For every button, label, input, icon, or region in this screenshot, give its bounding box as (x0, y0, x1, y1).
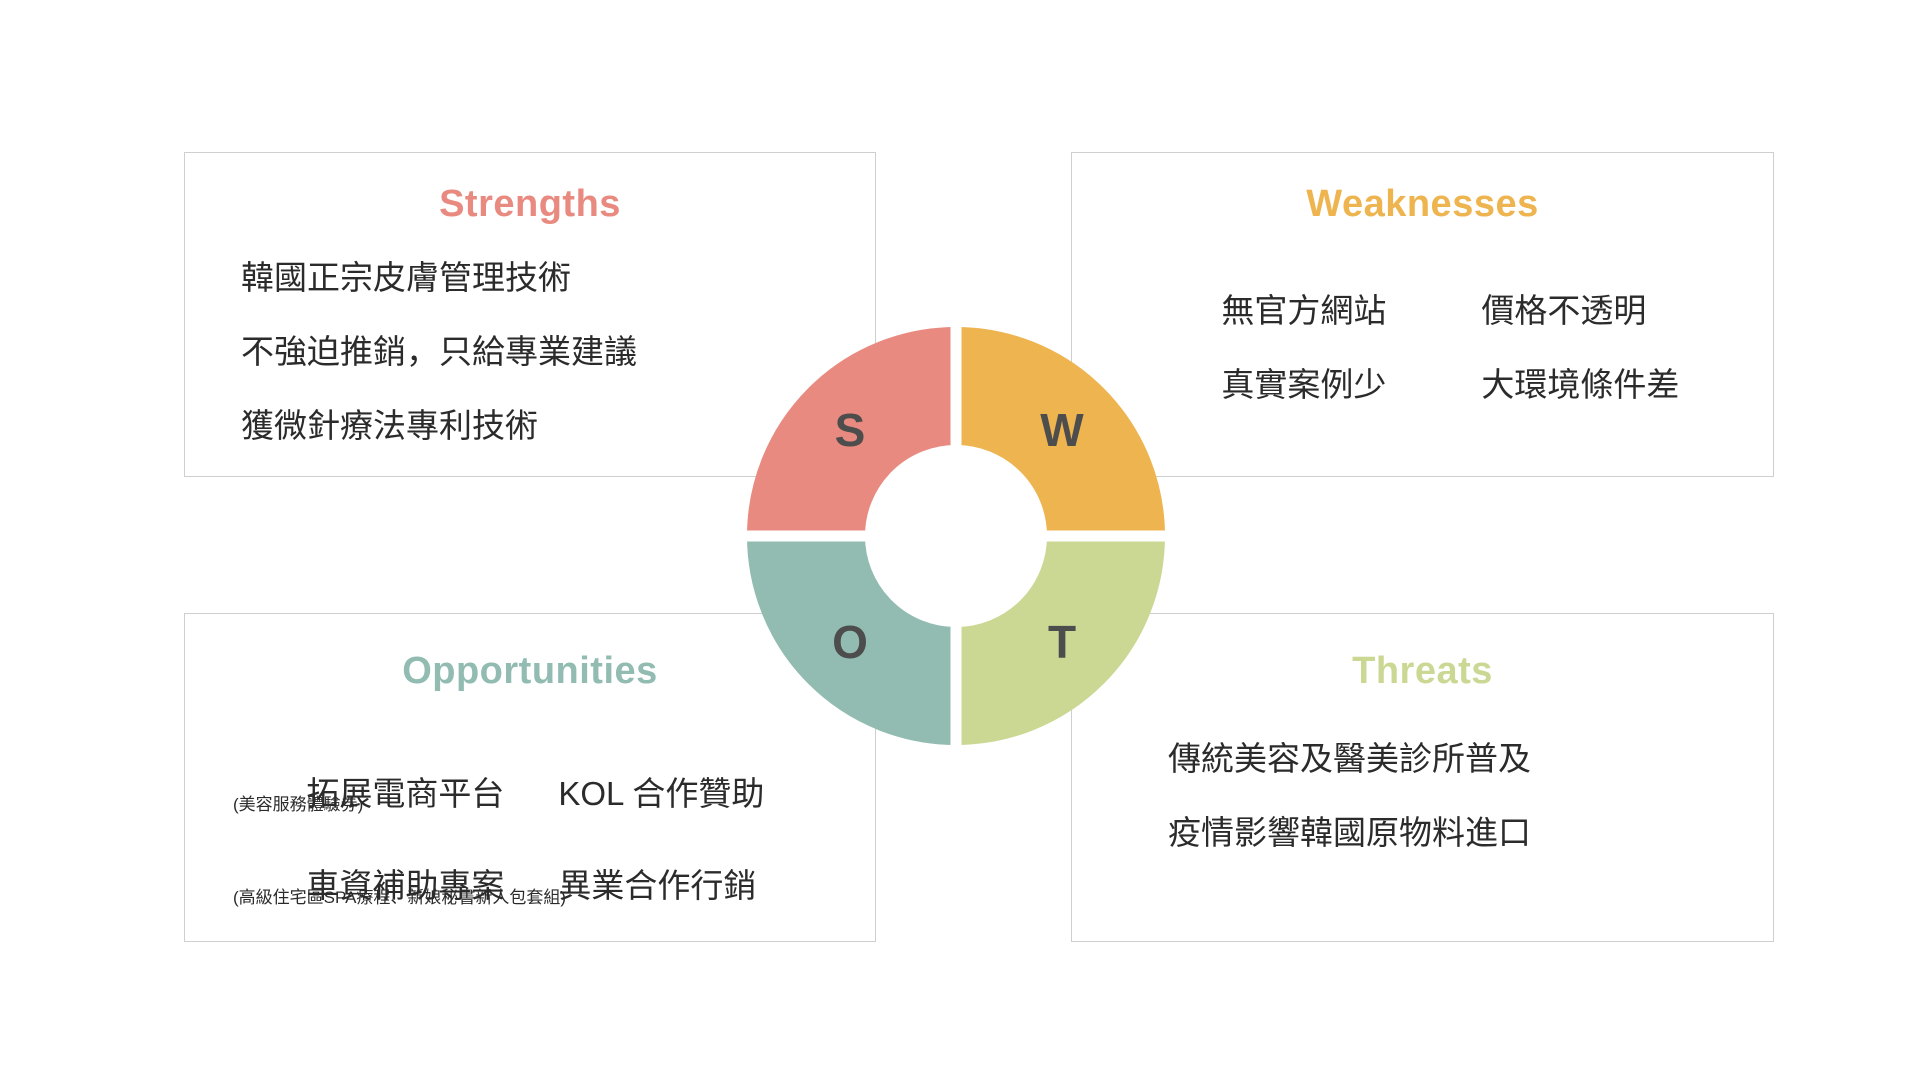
quadrant-weaknesses-row-1-left: 無官方網站 (1221, 294, 1481, 327)
quadrant-strengths-line-3: 獲微針療法專利技術 (241, 409, 538, 442)
quadrant-weaknesses-title: Weaknesses (1072, 185, 1773, 223)
donut-letter-t: T (1048, 616, 1076, 668)
quadrant-opportunities-row-2: 車資補助專案異業合作行銷 (233, 836, 756, 935)
quadrant-strengths-title: Strengths (185, 185, 875, 223)
swot-donut-chart: S W O T (736, 316, 1176, 756)
quadrant-weaknesses[interactable]: Weaknesses 無官方網站價格不透明 真實案例少大環境條件差 (1071, 152, 1774, 477)
quadrant-weaknesses-row-1-right: 價格不透明 (1481, 294, 1646, 327)
donut-svg: S W O T (736, 316, 1176, 756)
donut-segment-threats[interactable] (956, 536, 1106, 686)
quadrant-threats-line-1: 傳統美容及醫美診所普及 (1168, 742, 1531, 775)
donut-letter-w: W (1040, 404, 1084, 456)
quadrant-opportunities-row-2-note: (高級住宅區SPA療程、新娘秘書新人包套組) (233, 889, 566, 906)
donut-segment-opportunities[interactable] (806, 536, 956, 686)
quadrant-strengths-line-1: 韓國正宗皮膚管理技術 (241, 261, 571, 294)
quadrant-threats-line-2: 疫情影響韓國原物料進口 (1168, 816, 1531, 849)
quadrant-opportunities-row-1-right: KOL 合作贊助 (558, 777, 764, 810)
quadrant-threats-title: Threats (1072, 652, 1773, 690)
donut-segment-strengths[interactable] (806, 386, 956, 536)
quadrant-strengths-line-2: 不強迫推銷，只給專業建議 (241, 335, 637, 368)
quadrant-opportunities-row-1: 拓展電商平台KOL 合作贊助 (233, 744, 764, 843)
swot-diagram-canvas: Strengths 韓國正宗皮膚管理技術 不強迫推銷，只給專業建議 獲微針療法專… (0, 0, 1920, 1080)
donut-separators (738, 318, 1174, 754)
quadrant-threats-content: Threats 傳統美容及醫美診所普及 疫情影響韓國原物料進口 (1072, 614, 1773, 941)
quadrant-weaknesses-row-2-right: 大環境條件差 (1481, 368, 1679, 401)
quadrant-weaknesses-content: Weaknesses 無官方網站價格不透明 真實案例少大環境條件差 (1072, 153, 1773, 476)
donut-letter-s: S (835, 404, 866, 456)
quadrant-opportunities-row-2-right: 異業合作行銷 (558, 869, 756, 902)
quadrant-threats[interactable]: Threats 傳統美容及醫美診所普及 疫情影響韓國原物料進口 (1071, 613, 1774, 942)
quadrant-weaknesses-row-2: 真實案例少大環境條件差 (1148, 335, 1679, 434)
donut-letter-o: O (832, 616, 868, 668)
quadrant-weaknesses-row-2-left: 真實案例少 (1221, 368, 1481, 401)
quadrant-opportunities-row-1-note: (美容服務體驗券) (233, 796, 363, 813)
